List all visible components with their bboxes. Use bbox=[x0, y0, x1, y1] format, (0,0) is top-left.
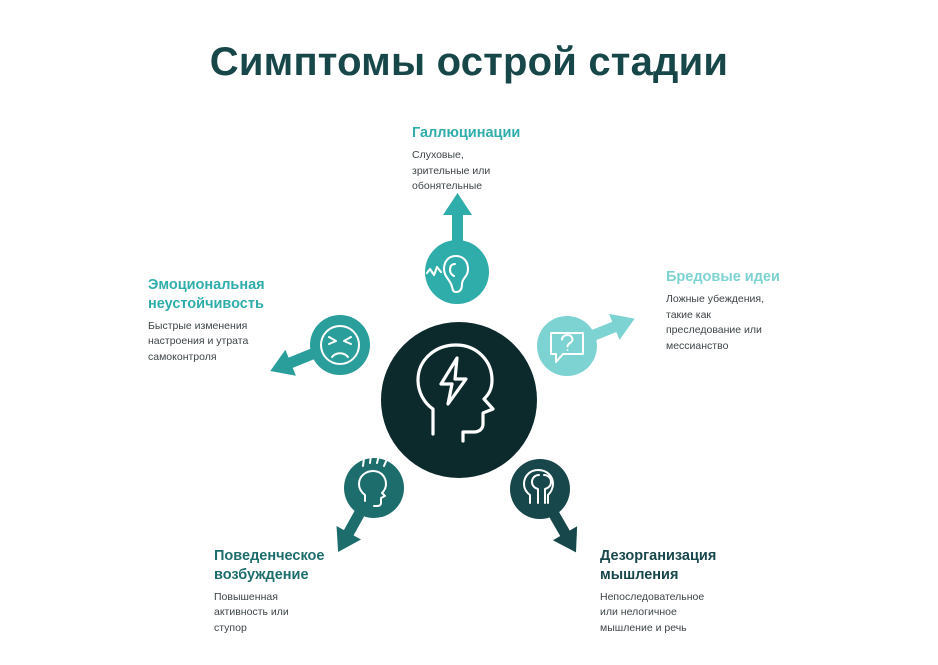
node-disorganized-thinking[interactable] bbox=[510, 459, 570, 519]
callout-emotional-instability-heading-line-1: Эмоциональная bbox=[148, 276, 318, 295]
callout-disorganized-thinking-line-3: мышление и речь bbox=[600, 621, 800, 637]
callout-delusions-line-1: Ложные убеждения, bbox=[666, 292, 856, 308]
callout-behavioral-agitation-heading-line-1: Поведенческое bbox=[214, 547, 404, 566]
node-hallucinations[interactable] bbox=[425, 240, 489, 304]
callout-delusions-line-2: такие как bbox=[666, 308, 856, 324]
node-emotional-instability[interactable] bbox=[310, 315, 370, 375]
callout-emotional-instability-body: Быстрые изменения настроения и утрата са… bbox=[148, 319, 318, 366]
infographic-canvas: Симптомы острой стадии bbox=[0, 0, 938, 665]
callout-delusions-line-3: преследование или bbox=[666, 323, 856, 339]
callout-disorganized-thinking-line-2: или нелогичное bbox=[600, 605, 800, 621]
callout-delusions-heading: Бредовые идеи bbox=[666, 268, 856, 287]
callout-disorganized-thinking-body: Непоследовательное или нелогичное мышлен… bbox=[600, 590, 800, 637]
callout-hallucinations-heading: Галлюцинации bbox=[412, 124, 592, 143]
callout-delusions: Бредовые идеи Ложные убеждения, такие ка… bbox=[666, 268, 856, 355]
page-title: Симптомы острой стадии bbox=[0, 40, 938, 84]
callout-hallucinations-body: Слуховые, зрительные или обонятельные bbox=[412, 148, 592, 195]
callout-behavioral-agitation-body: Повышенная активность или ступор bbox=[214, 590, 404, 637]
callout-hallucinations: Галлюцинации Слуховые, зрительные или об… bbox=[412, 124, 592, 195]
callout-emotional-instability-line-1: Быстрые изменения bbox=[148, 319, 318, 335]
callout-behavioral-agitation-heading-line-2: возбуждение bbox=[214, 566, 404, 585]
callout-hallucinations-line-2: зрительные или bbox=[412, 164, 592, 180]
node-delusions[interactable] bbox=[537, 316, 597, 376]
callout-behavioral-agitation-heading: Поведенческое возбуждение bbox=[214, 547, 404, 585]
callout-behavioral-agitation-line-2: активность или bbox=[214, 605, 404, 621]
center-node[interactable] bbox=[381, 322, 537, 478]
callout-hallucinations-line-3: обонятельные bbox=[412, 179, 592, 195]
callout-disorganized-thinking-heading: Дезорганизация мышления bbox=[600, 547, 800, 585]
callout-emotional-instability-heading: Эмоциональная неустойчивость bbox=[148, 276, 318, 314]
callout-disorganized-thinking-heading-line-2: мышления bbox=[600, 566, 800, 585]
callout-hallucinations-line-1: Слуховые, bbox=[412, 148, 592, 164]
callout-emotional-instability-heading-line-2: неустойчивость bbox=[148, 295, 318, 314]
callout-emotional-instability-line-3: самоконтроля bbox=[148, 350, 318, 366]
node-behavioral-agitation[interactable] bbox=[344, 455, 404, 518]
callout-emotional-instability: Эмоциональная неустойчивость Быстрые изм… bbox=[148, 276, 318, 366]
callout-behavioral-agitation-line-1: Повышенная bbox=[214, 590, 404, 606]
callout-disorganized-thinking: Дезорганизация мышления Непоследовательн… bbox=[600, 547, 800, 637]
callout-behavioral-agitation: Поведенческое возбуждение Повышенная акт… bbox=[214, 547, 404, 637]
callout-disorganized-thinking-heading-line-1: Дезорганизация bbox=[600, 547, 800, 566]
callout-emotional-instability-line-2: настроения и утрата bbox=[148, 334, 318, 350]
callout-delusions-line-4: мессианство bbox=[666, 339, 856, 355]
callout-delusions-body: Ложные убеждения, такие как преследовани… bbox=[666, 292, 856, 355]
callout-disorganized-thinking-line-1: Непоследовательное bbox=[600, 590, 800, 606]
callout-behavioral-agitation-line-3: ступор bbox=[214, 621, 404, 637]
